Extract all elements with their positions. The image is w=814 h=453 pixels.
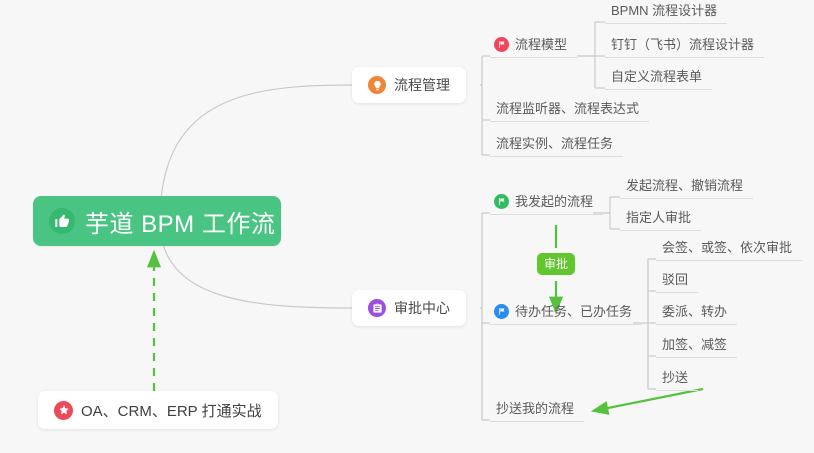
floating-node-label: OA、CRM、ERP 打通实战 bbox=[81, 400, 262, 421]
node-label: 会签、或签、依次审批 bbox=[662, 241, 792, 255]
branch-label: 审批中心 bbox=[394, 298, 450, 318]
node-custom-form[interactable]: 自定义流程表单 bbox=[605, 64, 712, 90]
flag-icon-green bbox=[494, 194, 509, 209]
node-reject[interactable]: 驳回 bbox=[656, 267, 698, 293]
branch-node-approval-center[interactable]: 审批中心 bbox=[352, 290, 466, 326]
node-todo-done-tasks[interactable]: 待办任务、已办任务 bbox=[490, 299, 642, 325]
node-designated-approver[interactable]: 指定人审批 bbox=[620, 205, 701, 231]
node-countersign[interactable]: 会签、或签、依次审批 bbox=[656, 235, 802, 261]
node-label: 发起流程、撤销流程 bbox=[626, 179, 743, 193]
node-label: 流程监听器、流程表达式 bbox=[496, 102, 639, 116]
floating-node-integration[interactable]: OA、CRM、ERP 打通实战 bbox=[38, 391, 278, 429]
node-label: 自定义流程表单 bbox=[611, 70, 702, 84]
node-bpmn-designer[interactable]: BPMN 流程设计器 bbox=[605, 0, 727, 24]
node-label: 我发起的流程 bbox=[515, 195, 593, 209]
branch-label: 流程管理 bbox=[394, 75, 450, 95]
node-label: 流程实例、流程任务 bbox=[496, 137, 613, 151]
branch-node-process-management[interactable]: 流程管理 bbox=[352, 67, 466, 103]
node-process-model[interactable]: 流程模型 bbox=[490, 32, 577, 58]
flag-icon-blue bbox=[494, 304, 509, 319]
node-add-remove-sign[interactable]: 加签、减签 bbox=[656, 332, 737, 358]
node-label: 钉钉（飞书）流程设计器 bbox=[611, 38, 754, 52]
lightbulb-icon bbox=[368, 76, 386, 94]
node-label: BPMN 流程设计器 bbox=[611, 4, 717, 18]
node-label: 指定人审批 bbox=[626, 211, 691, 225]
node-label: 委派、转办 bbox=[662, 305, 727, 319]
node-my-initiated-process[interactable]: 我发起的流程 bbox=[490, 189, 603, 215]
root-label: 芋道 BPM 工作流 bbox=[85, 204, 275, 239]
node-label: 抄送 bbox=[662, 371, 688, 385]
badge-label: 审批 bbox=[544, 257, 568, 271]
node-carbon-copy[interactable]: 抄送 bbox=[656, 365, 698, 391]
node-dingtalk-designer[interactable]: 钉钉（飞书）流程设计器 bbox=[605, 32, 764, 58]
node-process-instance[interactable]: 流程实例、流程任务 bbox=[490, 131, 623, 157]
node-start-cancel-process[interactable]: 发起流程、撤销流程 bbox=[620, 173, 753, 199]
thumbs-up-icon bbox=[49, 208, 75, 234]
approval-flow-badge: 审批 bbox=[537, 253, 575, 275]
node-label: 流程模型 bbox=[515, 38, 567, 52]
node-delegate-transfer[interactable]: 委派、转办 bbox=[656, 299, 737, 325]
node-process-listener[interactable]: 流程监听器、流程表达式 bbox=[490, 96, 649, 122]
node-label: 抄送我的流程 bbox=[496, 402, 574, 416]
node-label: 待办任务、已办任务 bbox=[515, 305, 632, 319]
root-node[interactable]: 芋道 BPM 工作流 bbox=[33, 196, 281, 246]
flag-icon-red bbox=[494, 37, 509, 52]
clipboard-icon bbox=[368, 299, 386, 317]
star-icon bbox=[54, 401, 73, 420]
node-cc-to-me-process[interactable]: 抄送我的流程 bbox=[490, 396, 584, 422]
mindmap-canvas: 芋道 BPM 工作流 流程管理 审批中心 流程模型 流程监听器、流程表达式 bbox=[0, 0, 814, 453]
node-label: 驳回 bbox=[662, 273, 688, 287]
node-label: 加签、减签 bbox=[662, 338, 727, 352]
